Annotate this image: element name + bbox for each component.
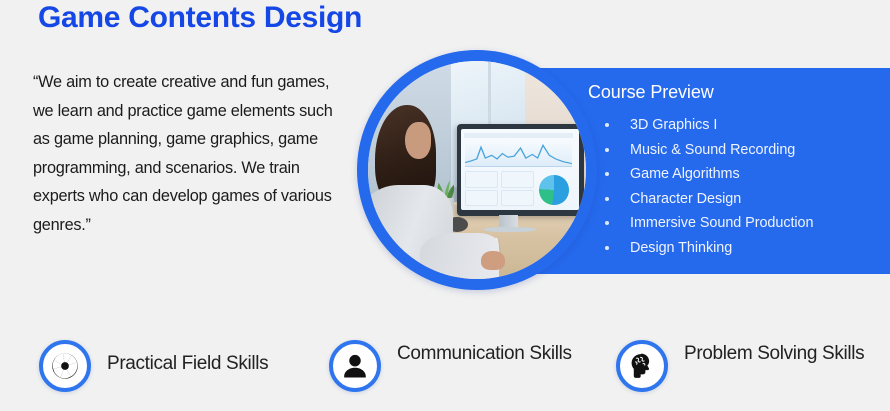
- photo-screen-metric-card: [465, 190, 498, 207]
- skill-label: Communication Skills: [397, 341, 612, 367]
- list-item: Music & Sound Recording: [601, 138, 813, 163]
- bullet-icon: [605, 246, 609, 250]
- photo-person-hand: [481, 251, 505, 271]
- photo-person-face: [405, 122, 431, 159]
- skill-icon-frame: [329, 340, 381, 392]
- photo-image: [368, 61, 586, 279]
- page-title: Game Contents Design: [38, 1, 362, 35]
- photo-screen-header: [464, 133, 573, 138]
- person-icon: [339, 350, 371, 382]
- list-item-label: Immersive Sound Production: [630, 215, 813, 231]
- skill-label: Practical Field Skills: [107, 351, 322, 377]
- photo-monitor-base: [484, 227, 536, 233]
- photo-screen-pie-chart: [539, 175, 568, 204]
- list-item: 3D Graphics I: [601, 113, 813, 138]
- skill-label: Problem Solving Skills: [684, 341, 890, 367]
- photo-screen-metric-card: [501, 171, 534, 188]
- course-preview-list: 3D Graphics I Music & Sound Recording Ga…: [601, 113, 813, 261]
- bullet-icon: [605, 148, 609, 152]
- list-item-label: Design Thinking: [630, 240, 732, 256]
- list-item: Immersive Sound Production: [601, 211, 813, 236]
- list-item-label: Game Algorithms: [630, 166, 740, 182]
- photo-screen-metric-card: [501, 190, 534, 207]
- photo-circle-frame: [357, 50, 597, 290]
- list-item: Design Thinking: [601, 236, 813, 261]
- bullet-icon: [605, 221, 609, 225]
- photo-monitor-stand: [499, 215, 519, 228]
- quote-text: “We aim to create creative and fun games…: [33, 68, 345, 239]
- list-item: Character Design: [601, 187, 813, 212]
- bullet-icon: [605, 172, 609, 176]
- list-item: Game Algorithms: [601, 162, 813, 187]
- camera-aperture-icon: [50, 351, 80, 381]
- skill-icon-frame: [39, 340, 91, 392]
- photo-screen-metric-card: [465, 171, 498, 188]
- list-item-label: Character Design: [630, 191, 741, 207]
- photo-screen-line-chart: [465, 139, 572, 166]
- head-brain-icon: [628, 352, 657, 381]
- list-item-label: Music & Sound Recording: [630, 142, 795, 158]
- skill-icon-frame: [616, 340, 668, 392]
- slide-canvas: Game Contents Design “We aim to create c…: [0, 0, 890, 411]
- list-item-label: 3D Graphics I: [630, 117, 717, 133]
- bullet-icon: [605, 197, 609, 201]
- bullet-icon: [605, 123, 609, 127]
- course-preview-title: Course Preview: [588, 82, 714, 103]
